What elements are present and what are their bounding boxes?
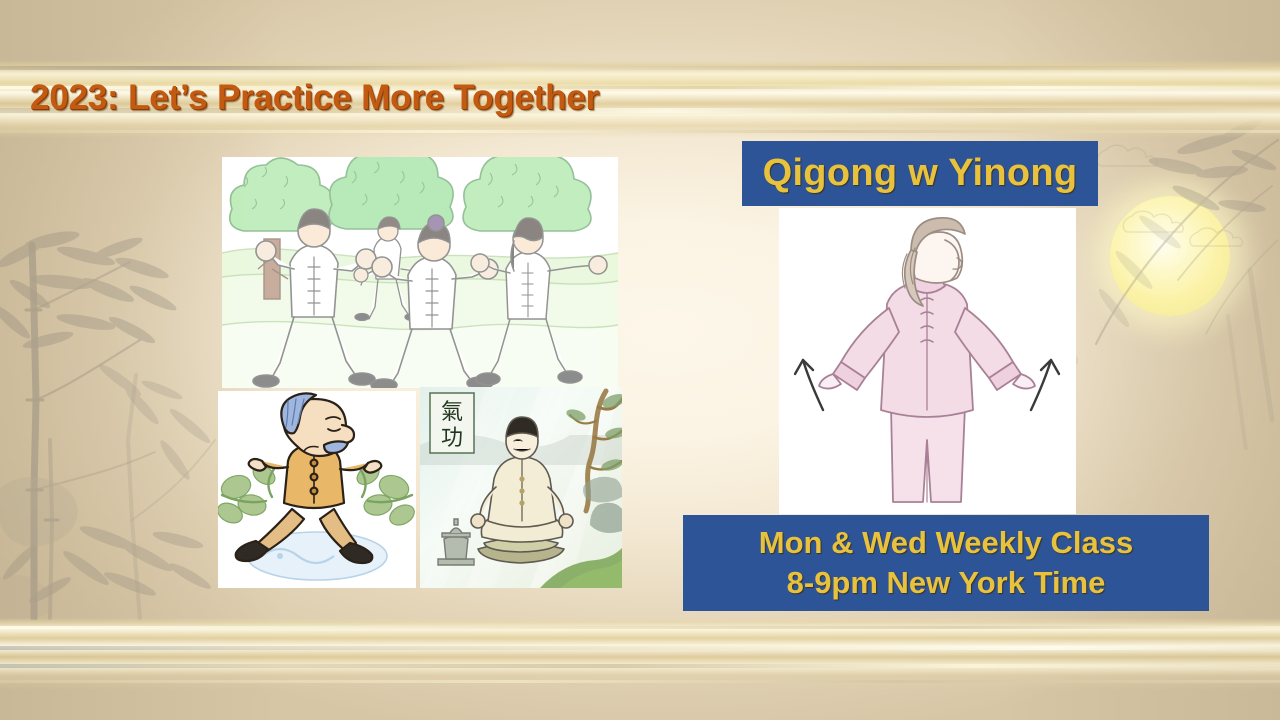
image-group-practice bbox=[222, 157, 618, 388]
image-elder-practice bbox=[218, 391, 416, 588]
bamboo-ink-painting-decor bbox=[0, 190, 240, 620]
image-demo-figure bbox=[779, 208, 1076, 514]
schedule-box: Mon & Wed Weekly Class 8-9pm New York Ti… bbox=[683, 515, 1209, 611]
image-meditation: 氣 功 bbox=[420, 387, 622, 588]
svg-text:功: 功 bbox=[441, 426, 463, 451]
presentation-slide: 2023: Let’s Practice More Together bbox=[0, 0, 1280, 720]
slide-title: 2023: Let’s Practice More Together bbox=[30, 78, 599, 118]
class-title-text: Qigong w Yinong bbox=[763, 152, 1078, 195]
schedule-line-time: 8-9pm New York Time bbox=[787, 563, 1106, 603]
class-title-box: Qigong w Yinong bbox=[742, 141, 1098, 206]
schedule-line-days: Mon & Wed Weekly Class bbox=[759, 523, 1133, 563]
svg-text:氣: 氣 bbox=[441, 400, 463, 425]
